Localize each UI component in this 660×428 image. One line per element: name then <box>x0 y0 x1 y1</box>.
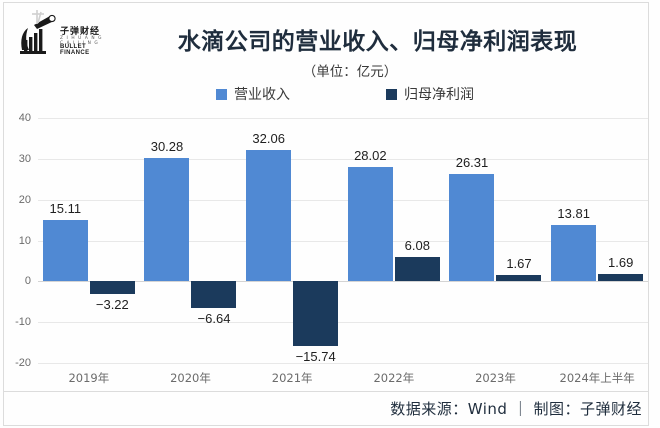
bar-group: 30.28−6.642020年 <box>140 118 242 363</box>
x-axis-category-label: 2023年 <box>445 370 547 386</box>
bar-revenue[interactable] <box>348 167 393 281</box>
legend-swatch-net-profit <box>386 89 397 100</box>
bar-group: 32.06−15.742021年 <box>241 118 343 363</box>
footer-divider <box>4 391 648 392</box>
bar-value-label: 30.28 <box>136 139 199 154</box>
y-axis-tick-label: 20 <box>19 194 31 206</box>
bar-group: 13.811.692024年上半年 <box>546 118 648 363</box>
bar-group: 26.311.672023年 <box>445 118 547 363</box>
chart-subtitle: （单位：亿元） <box>0 60 660 80</box>
y-axis-tick-label: 0 <box>25 275 31 287</box>
y-axis-tick-label: 30 <box>19 153 31 165</box>
legend-swatch-revenue <box>216 89 227 100</box>
bar-net-profit[interactable] <box>496 275 541 282</box>
x-axis-category-label: 2022年 <box>343 370 445 386</box>
legend-label-net-profit: 归母净利润 <box>404 84 474 104</box>
bar-revenue[interactable] <box>551 225 596 281</box>
x-axis-category-label: 2019年 <box>38 370 140 386</box>
x-axis-category-label: 2021年 <box>241 370 343 386</box>
bar-net-profit[interactable] <box>395 257 440 282</box>
y-axis-tick-label: 10 <box>19 235 31 247</box>
bar-group: 15.11−3.222019年 <box>38 118 140 363</box>
x-axis-category-label: 2024年上半年 <box>546 370 648 386</box>
chart-legend: 营业收入 归母净利润 <box>0 84 660 104</box>
bar-value-label: 13.81 <box>542 206 605 221</box>
y-axis-tick-label: 40 <box>19 112 31 124</box>
x-axis-category-label: 2020年 <box>140 370 242 386</box>
bar-net-profit[interactable] <box>90 281 135 294</box>
bar-value-label: −15.74 <box>284 349 347 364</box>
y-axis-tick-label: -20 <box>15 357 31 369</box>
bar-net-profit[interactable] <box>293 281 338 345</box>
bar-net-profit[interactable] <box>598 274 643 281</box>
bar-value-label: −3.22 <box>81 297 144 312</box>
chart-figure: 子弹财经 Z I H U A N G C A I J I N G BULLET … <box>0 0 660 428</box>
legend-item-revenue[interactable]: 营业收入 <box>216 84 290 104</box>
bar-group: 28.026.082022年 <box>343 118 445 363</box>
bar-value-label: 26.31 <box>441 155 504 170</box>
footer-source: 数据来源：Wind ｜ 制图：子弹财经 <box>390 398 642 419</box>
bar-value-label: 1.69 <box>589 255 652 270</box>
plot-area: 403020100-10-2015.11−3.222019年30.28−6.64… <box>38 118 648 363</box>
legend-item-net-profit[interactable]: 归母净利润 <box>386 84 474 104</box>
bar-value-label: 28.02 <box>339 148 402 163</box>
bar-revenue[interactable] <box>43 220 88 282</box>
chart-title: 水滴公司的营业收入、归母净利润表现 <box>0 22 660 56</box>
bar-value-label: 32.06 <box>237 131 300 146</box>
bar-value-label: −6.64 <box>182 311 245 326</box>
legend-label-revenue: 营业收入 <box>234 84 290 104</box>
bar-value-label: 1.67 <box>487 256 550 271</box>
bar-value-label: 15.11 <box>34 201 97 216</box>
bar-net-profit[interactable] <box>191 281 236 308</box>
bar-revenue[interactable] <box>144 158 189 282</box>
y-axis-tick-label: -10 <box>15 316 31 328</box>
bar-value-label: 6.08 <box>386 238 449 253</box>
bar-revenue[interactable] <box>246 150 291 281</box>
